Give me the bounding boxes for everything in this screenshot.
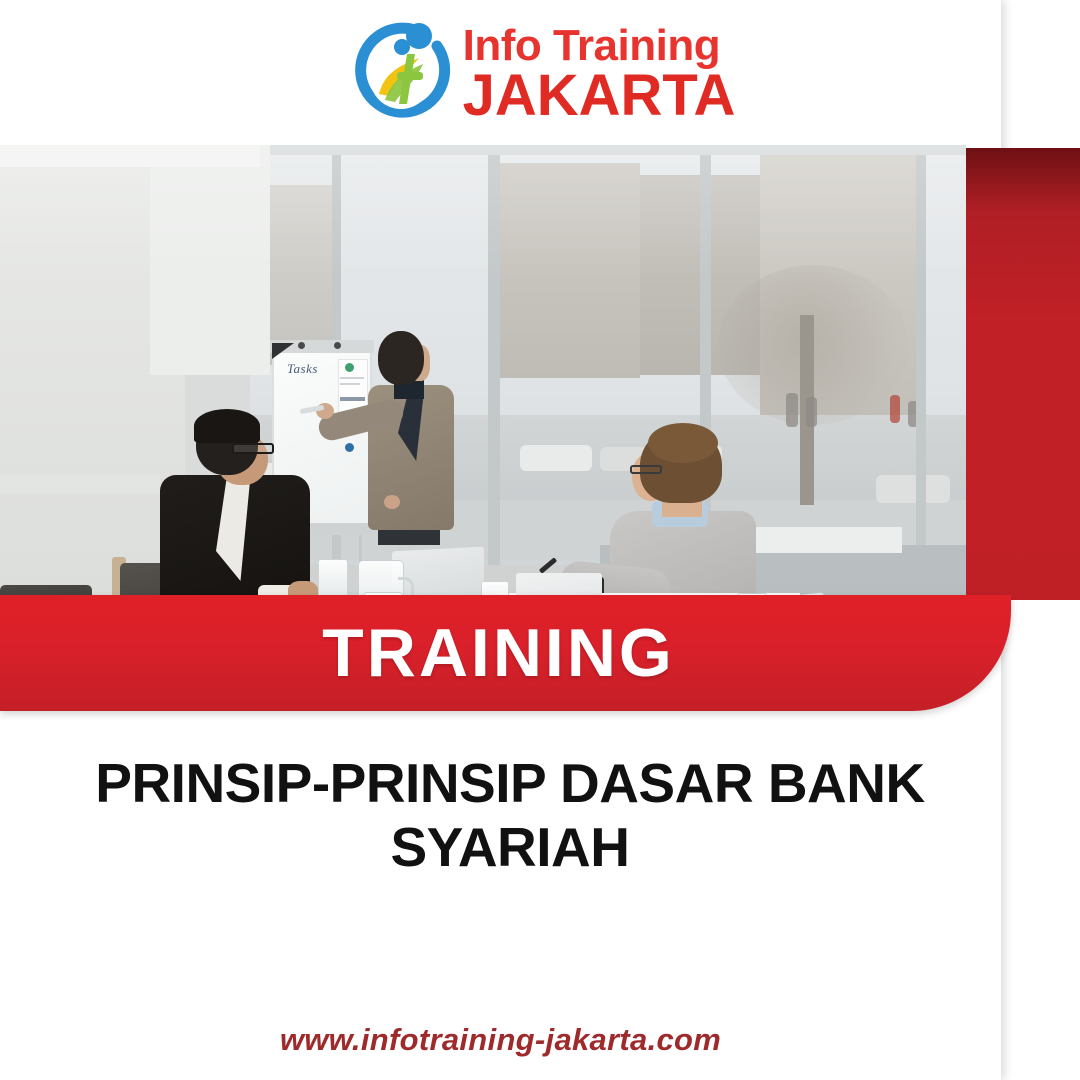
training-banner: TRAINING [0,595,1011,711]
soffit [0,475,160,493]
hero-photo: Tasks [0,145,966,597]
whiteboard-text: Tasks [287,361,318,377]
attendee-right-hair [648,423,718,463]
brand-line-2: JAKARTA [463,69,736,122]
window-mullion [916,145,926,597]
attendee-left-hair [194,409,260,443]
footer-block: www.infotraining-jakarta.com [0,1022,1001,1058]
interior-wall-upper [150,145,270,375]
window-mullion [488,145,500,581]
banner-label: TRAINING [322,619,675,687]
pedestrian [890,395,900,423]
window-frame [250,145,966,155]
presenter-hair [378,331,424,385]
poster-canvas: Info Training JAKARTA [0,0,1080,1080]
whiteboard-line [340,383,360,385]
presenter-hand [384,495,400,509]
red-side-bar [966,148,1080,600]
it-circle-logo-icon [345,20,457,128]
brand-logo[interactable]: Info Training JAKARTA [0,14,1080,134]
whiteboard-dot-blue [345,443,354,452]
whiteboard-dot-green [345,363,354,372]
building-left [500,163,640,378]
whiteboard-line [340,377,364,379]
brand-line-1: Info Training [463,26,736,66]
page-title: PRINSIP-PRINSIP DASAR BANK SYARIAH [70,752,950,880]
pedestrian [806,397,817,427]
ceiling [0,145,260,167]
laptop-screen [516,573,602,597]
whiteboard-clip [298,342,305,349]
attendee-left-glasses [232,443,274,454]
attendee-right-glasses [630,465,662,474]
brand-wordmark: Info Training JAKARTA [463,26,736,122]
building-far-left [262,185,332,365]
car [520,445,592,471]
whiteboard-clip [334,342,341,349]
whiteboard-line [340,397,365,401]
title-block: PRINSIP-PRINSIP DASAR BANK SYARIAH [70,752,950,880]
website-url[interactable]: www.infotraining-jakarta.com [280,1022,721,1057]
car [876,475,950,503]
pedestrian [786,393,798,427]
water-glass [318,559,348,597]
